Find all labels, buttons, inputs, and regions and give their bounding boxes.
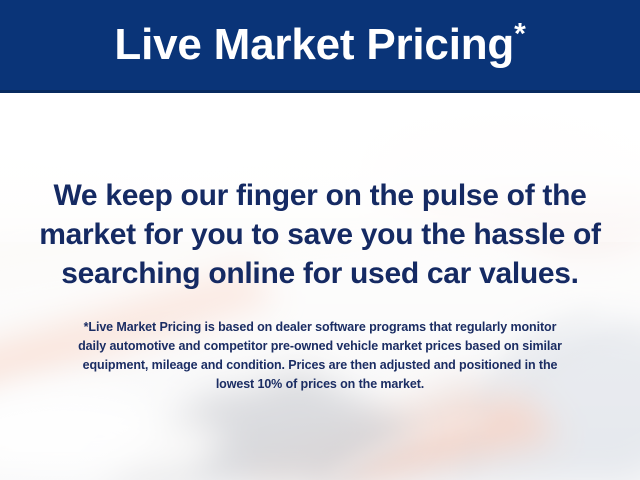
headline-block: We keep our finger on the pulse of the m… [0,176,640,293]
disclaimer-line-1: *Live Market Pricing is based on dealer … [26,318,614,337]
header-banner: Live Market Pricing* [0,0,640,93]
disclaimer-line-4: lowest 10% of prices on the market. [26,375,614,394]
headline-line-2: market for you to save you the hassle of [22,215,618,254]
title-asterisk: * [514,17,525,50]
page-title: Live Market Pricing* [114,23,525,70]
disclaimer-line-2: daily automotive and competitor pre-owne… [26,337,614,356]
live-market-pricing-card: Live Market Pricing* We keep our finger … [0,0,640,480]
disclaimer-block: *Live Market Pricing is based on dealer … [0,318,640,394]
headline-line-1: We keep our finger on the pulse of the [22,176,618,215]
page-title-text: Live Market Pricing [114,20,514,69]
headline-line-3: searching online for used car values. [22,254,618,293]
disclaimer-line-3: equipment, mileage and condition. Prices… [26,356,614,375]
